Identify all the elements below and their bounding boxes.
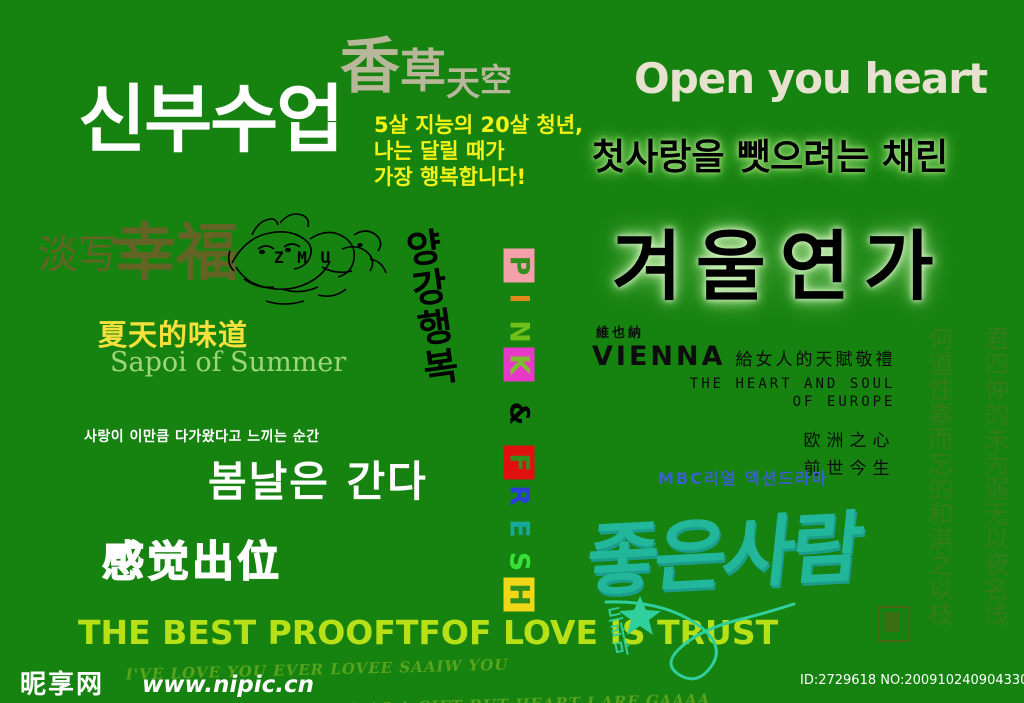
pinkfresh-letter-i: I <box>504 282 535 316</box>
yellow-korean-line-2: 나는 달릴 때가 <box>374 138 583 164</box>
block-vienna: 維也納 VIENNA 給女人的天賦敬禮 THE HEART AND SOUL O… <box>592 322 895 479</box>
title-chaerin: 첫사랑을 뺏으려는 채린 <box>592 128 948 180</box>
title-spring-day-goes: 봄날은 간다 <box>208 448 428 509</box>
watermark-url[interactable]: www.nipic.cn <box>142 672 314 698</box>
vienna-chinese-name: 維也納 <box>596 322 895 341</box>
title-good-person: 좋은사람 <box>581 485 866 611</box>
calligraphy-column-2: 何道性嘉而忘的和淇之以枝 <box>924 326 954 626</box>
seal-stamp-fill <box>884 612 900 632</box>
vienna-english-line-2: OF EUROPE <box>592 394 895 410</box>
pinkfresh-letter-h: H <box>504 578 535 612</box>
watermark-id-text: ID:2729618 NO:20091024090433032415 <box>800 673 1024 688</box>
design-canvas: 신부수업 香草天空 5살 지능의 20살 청년, 나는 달릴 때가 가장 행복합… <box>0 0 1024 703</box>
xiangcao-char-4: 空 <box>480 61 512 99</box>
xiangcao-char-2: 草 <box>400 44 446 98</box>
pinkfresh-letter-e: E <box>504 512 535 546</box>
xiangcao-char-3: 天 <box>446 64 480 104</box>
pinkfresh-letter-r: R <box>504 479 535 513</box>
watermark-logo: 昵享网 <box>20 664 104 701</box>
yellow-korean-line-1: 5살 지능의 20살 청년, <box>374 112 583 138</box>
vertical-calligraphy-poem: 何道性嘉而忘的和淇之以枝 君四仲的未为弱无以夜名浅 <box>924 326 1010 626</box>
vertical-korean-calligraphy: 양강행복 <box>391 225 468 391</box>
vienna-chinese-line-1: 欧洲之心 <box>592 426 895 451</box>
vienna-title-row: VIENNA 給女人的天賦敬禮 <box>592 341 895 372</box>
title-ganjue-chuwei: 感觉出位 <box>102 528 282 589</box>
title-sinbu-sueop: 신부수업 <box>78 60 342 167</box>
title-xiangcao-tiankong: 香草天空 <box>340 18 512 105</box>
summer-english: Sapoi of Summer <box>110 347 346 378</box>
vienna-english-line-1: THE HEART AND SOUL <box>592 376 895 392</box>
xiangcao-char-1: 香 <box>340 32 400 102</box>
svg-text:Z M U: Z M U <box>274 248 332 267</box>
vienna-wordmark: VIENNA <box>592 341 725 372</box>
danxie-part-2: 幸福 <box>114 216 238 289</box>
tiger-illustration: Z M U <box>222 205 394 310</box>
vienna-chinese-subtitle: 給女人的天賦敬禮 <box>735 345 895 370</box>
yellow-korean-line-3: 가장 행복합니다! <box>374 164 583 190</box>
danxie-part-1: 淡写 <box>38 232 118 278</box>
subtitle-love-moment: 사랑이 이만큼 다가왔다고 느끼는 순간 <box>84 426 320 446</box>
label-mbc-drama: MBC리얼 액션드라마 <box>658 465 828 489</box>
title-open-you-heart: Open you heart <box>634 54 987 103</box>
title-winter-sonata: 겨울연가 <box>612 205 948 315</box>
pinkfresh-letter-n: N <box>504 315 535 349</box>
block-yellow-korean: 5살 지능의 20살 청년, 나는 달릴 때가 가장 행복합니다! <box>374 112 583 190</box>
pinkfresh-letter-amp: & <box>504 397 535 431</box>
block-summer-taste: 夏天的味道 Sapoi of Summer <box>98 312 346 378</box>
pinkfresh-letter-p: P <box>504 249 535 283</box>
calligraphy-column-1: 君四仲的未为弱无以夜名浅 <box>980 326 1010 626</box>
title-danxie-xingfu: 淡写幸福 <box>38 196 242 286</box>
pinkfresh-letter-f: F <box>504 446 535 480</box>
pinkfresh-letter-k: K <box>504 348 535 382</box>
pinkfresh-letter-s: S <box>504 545 535 579</box>
block-pink-and-fresh: P I N K & F R E S H <box>502 250 536 612</box>
